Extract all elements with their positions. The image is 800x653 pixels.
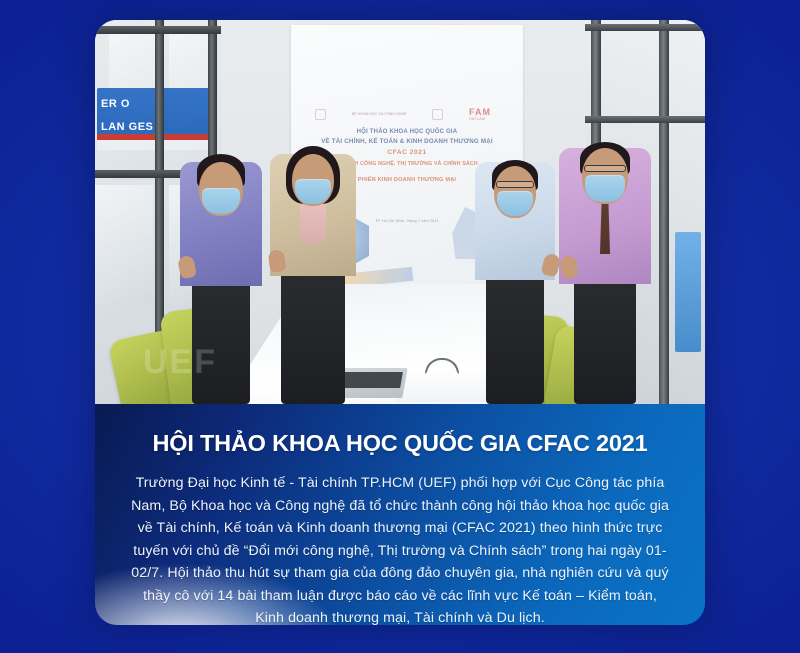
partition-rail	[585, 24, 705, 31]
person-1-trousers	[192, 274, 250, 404]
uef-logo-icon	[432, 109, 443, 120]
partition-post	[659, 20, 669, 404]
post-card: ER O LAN GES BỘ KHOA HỌC VÀ CÔNG NG	[95, 20, 705, 625]
page-body-text: Trường Đại học Kinh tế - Tài chính TP.HC…	[129, 472, 671, 625]
person-1-face-mask	[202, 188, 240, 214]
person-2-scarf	[300, 200, 326, 244]
person-4-face-mask	[585, 175, 625, 202]
person-4	[553, 94, 657, 404]
window-mullion-horizontal	[95, 26, 221, 34]
person-3-glasses	[496, 181, 534, 188]
glass-pane	[95, 185, 153, 305]
person-4-trousers	[574, 272, 636, 404]
person-3-trousers	[486, 268, 544, 404]
person-3	[467, 104, 563, 404]
caption-panel: HỘI THẢO KHOA HỌC QUỐC GIA CFAC 2021 Trư…	[95, 404, 705, 625]
uef-watermark: UEF	[143, 343, 217, 382]
person-4-glasses	[584, 165, 626, 172]
person-2-trousers	[281, 264, 345, 404]
blue-shelf	[675, 232, 701, 352]
page-title: HỘI THẢO KHOA HỌC QUỐC GIA CFAC 2021	[129, 430, 671, 457]
event-photo: ER O LAN GES BỘ KHOA HỌC VÀ CÔNG NG	[95, 20, 705, 404]
person-2	[263, 104, 363, 404]
